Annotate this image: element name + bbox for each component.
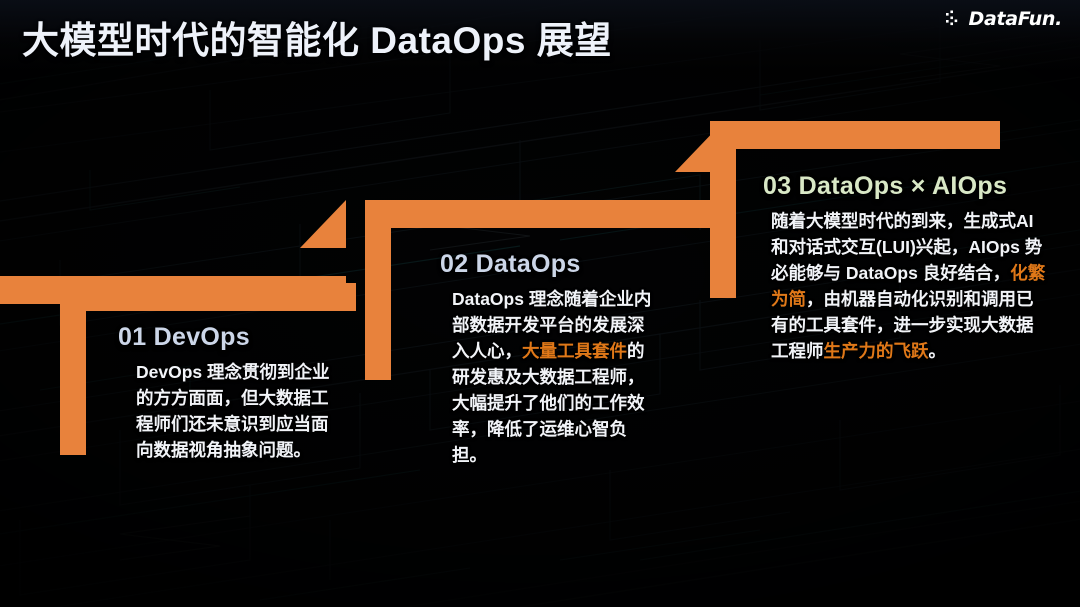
step-02-body: DataOps 理念随着企业内部数据开发平台的发展深入人心，大量工具套件的研发惠…	[440, 286, 655, 468]
step-block-01: 01 DevOps DevOps 理念贯彻到企业的方方面面，但大数据工程师们还未…	[118, 323, 333, 463]
step-02-body-highlight-1: 大量工具套件	[522, 341, 627, 361]
step-03-body-text-1: 随着大模型时代的到来，生成式AI和对话式交互(LUI)兴起，AIOps 势必能够…	[771, 211, 1042, 283]
step-block-03: 03 DataOps × AIOps 随着大模型时代的到来，生成式AI和对话式交…	[763, 172, 1048, 364]
page-title: 大模型时代的智能化 DataOps 展望	[22, 10, 612, 64]
step-01-body: DevOps 理念贯彻到企业的方方面面，但大数据工程师们还未意识到应当面向数据视…	[118, 359, 333, 463]
step-03-heading: 03 DataOps × AIOps	[763, 172, 1048, 201]
step-03-body: 随着大模型时代的到来，生成式AI和对话式交互(LUI)兴起，AIOps 势必能够…	[763, 208, 1048, 364]
step-03-body-text-3: 。	[929, 341, 947, 361]
step-03-body-highlight-2: 生产力的飞跃	[824, 341, 929, 361]
step-02-heading: 02 DataOps	[440, 250, 655, 279]
step-01-body-text: DevOps 理念贯彻到企业的方方面面，但大数据工程师们还未意识到应当面向数据视…	[136, 362, 330, 460]
step-3-horizontal-bar	[710, 121, 1000, 149]
logo-text: DataFun.	[968, 8, 1062, 30]
step-2-bar-decoration	[0, 276, 346, 304]
step-3-bar-decoration	[373, 200, 721, 228]
datafun-logo: DataFun.	[945, 8, 1062, 30]
step-01-heading: 01 DevOps	[118, 323, 333, 352]
step-2-triangle-decoration	[300, 200, 346, 248]
step-block-02: 02 DataOps DataOps 理念随着企业内部数据开发平台的发展深入人心…	[440, 250, 655, 468]
datafun-dots-icon	[945, 9, 965, 29]
slide-canvas: 大模型时代的智能化 DataOps 展望 DataFun.	[0, 0, 1080, 607]
